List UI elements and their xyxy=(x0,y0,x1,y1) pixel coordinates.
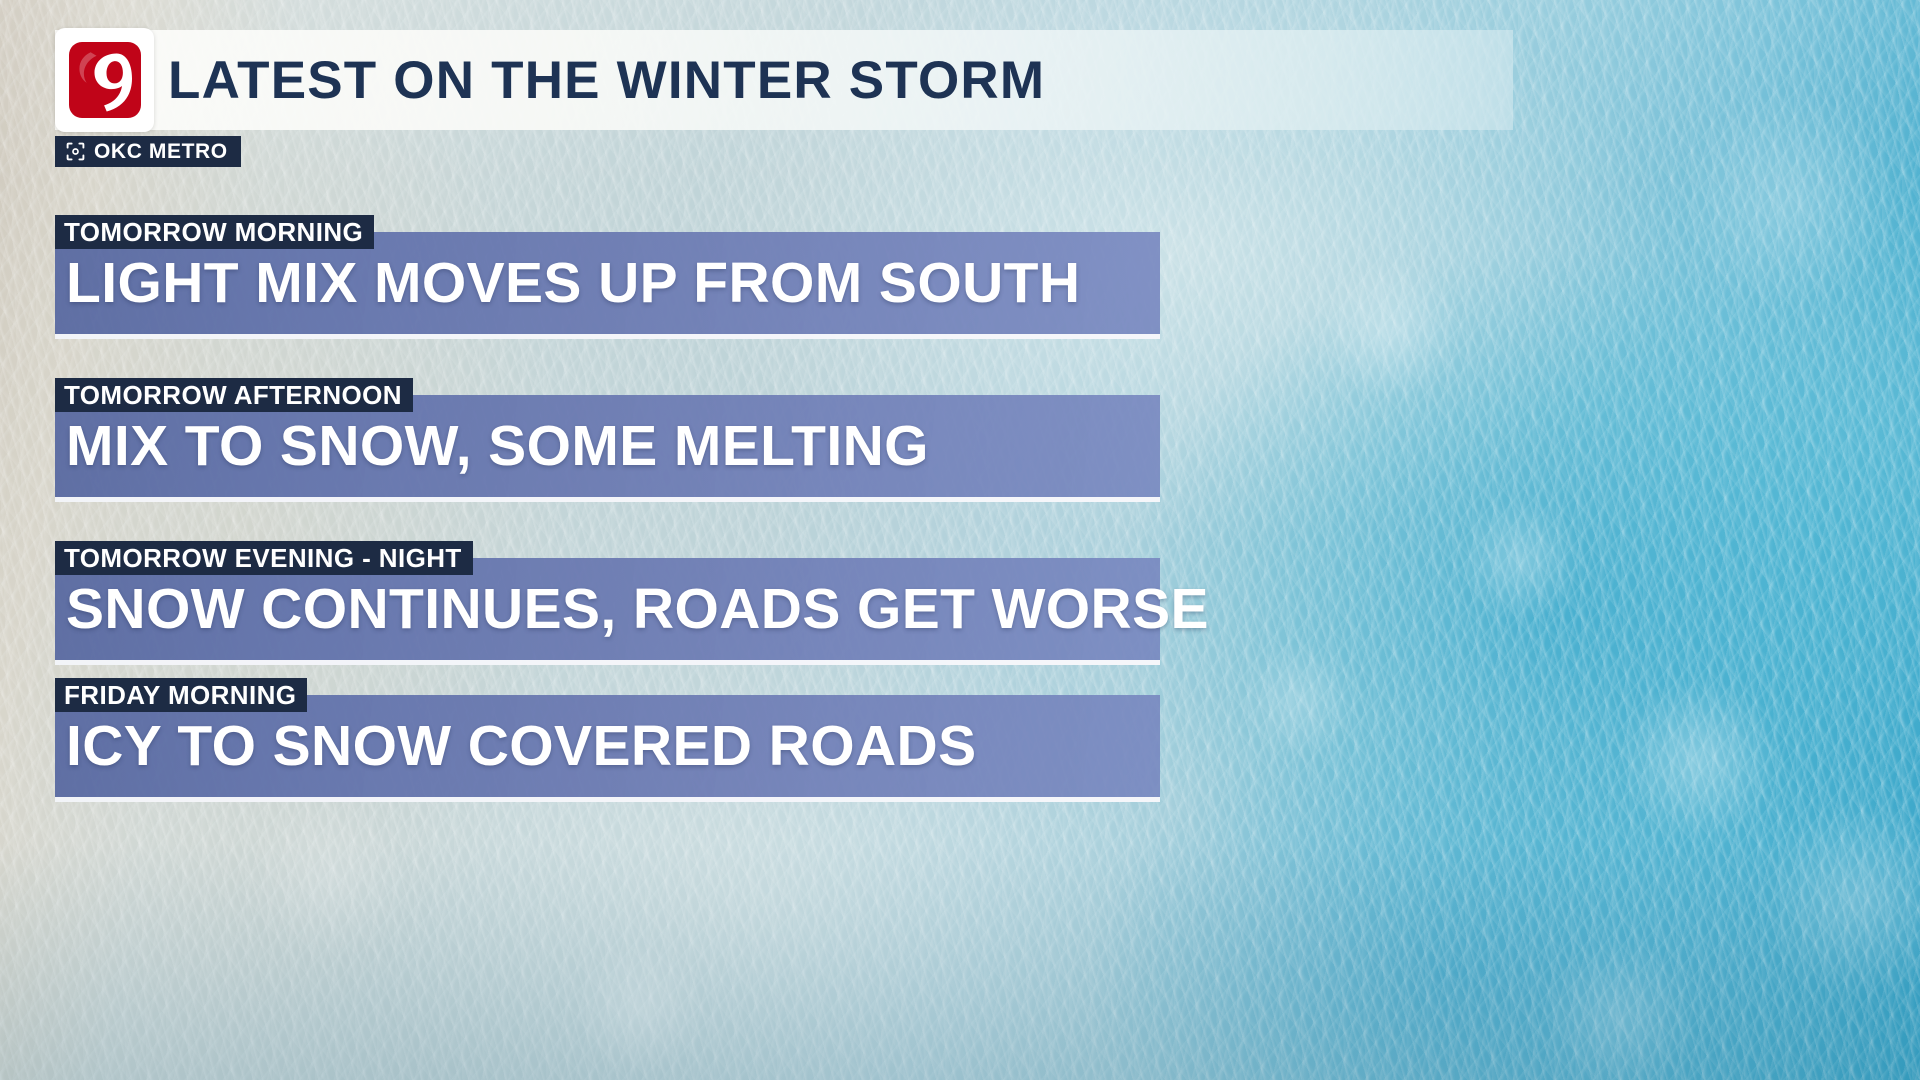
timeline-period-label: TOMORROW MORNING xyxy=(55,215,374,249)
timeline-period-label: FRIDAY MORNING xyxy=(55,678,307,712)
timeline-headline: SNOW CONTINUES, ROADS GET WORSE xyxy=(55,581,1209,638)
timeline-headline: MIX TO SNOW, SOME MELTING xyxy=(55,418,929,475)
weather-graphic-stage: LATEST ON THE WINTER STORM OKC METRO LIG… xyxy=(0,0,1920,1080)
timeline-headline: ICY TO SNOW COVERED ROADS xyxy=(55,718,977,775)
timeline-period-label: TOMORROW EVENING - NIGHT xyxy=(55,541,473,575)
timeline-period-label: TOMORROW AFTERNOON xyxy=(55,378,413,412)
timeline-list: LIGHT MIX MOVES UP FROM SOUTH TOMORROW M… xyxy=(0,0,1920,1080)
timeline-headline: LIGHT MIX MOVES UP FROM SOUTH xyxy=(55,255,1080,312)
